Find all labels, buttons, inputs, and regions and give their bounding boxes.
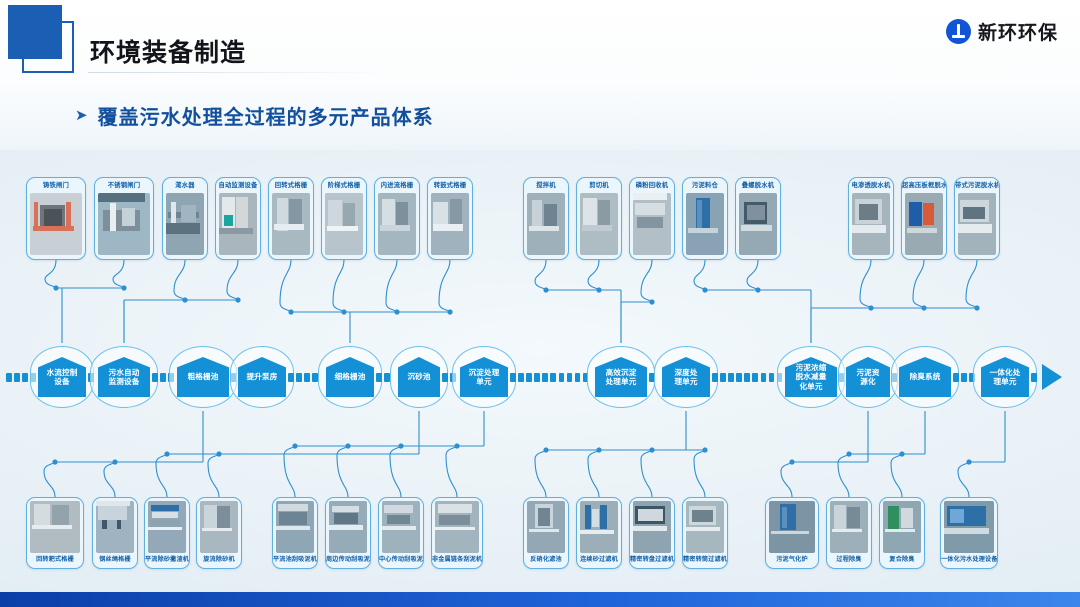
page-title: 环境装备制造 [90,33,246,69]
product-thumbnail [580,193,618,255]
connector-line [860,260,871,308]
process-node-label: 除臭系统 [901,372,949,381]
product-thumbnail [30,501,80,553]
photo-texture [148,501,186,553]
connector-line [446,446,457,497]
product-thumbnail [852,193,890,255]
photo-texture [325,193,363,255]
photo-texture [769,501,815,553]
product-card-label: 不锈钢闸门 [95,178,153,193]
product-card-label: 周边传动刮吸泥机 [326,553,370,567]
photo-texture [633,501,671,553]
product-thumbnail [200,501,238,553]
connector-line [45,260,56,288]
product-card-bottom[interactable]: 中心传动刮吸泥机 [378,497,424,569]
photo-texture [686,501,724,553]
photo-texture [883,501,921,553]
product-thumbnail [944,501,994,553]
product-thumbnail [686,501,724,553]
product-thumbnail [325,193,363,255]
connector-line [174,260,185,300]
connector-line [641,260,652,302]
product-card-label: 非金属链条刮泥机 [432,553,482,567]
product-card-label: 污泥气化炉 [766,553,818,567]
title-divider [88,72,388,73]
product-card-top[interactable]: 污泥料仓 [682,177,728,260]
product-card-top[interactable]: 自动监测设备 [215,177,261,260]
photo-texture [272,193,310,255]
product-card-top[interactable]: 电渗透脱水机 [848,177,894,260]
process-node-label: 细格栅池 [328,372,372,381]
flow-dashes [510,373,593,382]
product-card-bottom[interactable]: 回转耙式格栅 [26,497,84,569]
photo-texture [329,501,367,553]
connector-line [113,260,124,288]
product-card-bottom[interactable]: 周边传动刮吸泥机 [325,497,371,569]
product-card-label: 旋流除砂机 [197,553,241,567]
photo-texture [580,193,618,255]
product-card-label: 污泥料仓 [683,178,727,193]
connector-line [694,260,705,290]
process-node-label: 沉砂池 [400,372,438,381]
flow-dashes [712,373,783,382]
process-node-label: 深度处理单元 [664,368,708,386]
process-node-label: 一体化处理单元 [983,368,1027,386]
process-node-label: 水流控制设备 [40,368,84,386]
photo-texture [580,501,618,553]
product-card-top[interactable]: 回转式格栅 [268,177,314,260]
flow-arrow-icon [1042,364,1062,390]
photo-texture [852,193,890,255]
photo-texture [30,501,80,553]
product-card-top[interactable]: 超高压板框脱水机 [901,177,947,260]
connector-line [966,260,977,308]
photo-texture [633,193,671,255]
product-card-label: 回转耙式格栅 [27,553,83,567]
process-node-label: 高效沉淀处理单元 [597,368,645,386]
product-card-label: 自动监测设备 [216,178,260,193]
photo-texture [905,193,943,255]
photo-texture [527,501,565,553]
connector-line [156,454,167,497]
connector-line [208,454,219,497]
product-thumbnail [633,193,671,255]
product-thumbnail [527,501,565,553]
photo-texture [739,193,777,255]
product-thumbnail [958,193,996,255]
product-card-label: 超高压板框脱水机 [902,178,946,193]
product-thumbnail [431,193,469,255]
connector-line [439,260,450,312]
product-card-label: 连续砂过滤机 [577,553,621,567]
process-node-label: 污泥资源化 [848,368,888,386]
product-thumbnail [378,193,416,255]
brand-logo: 新环环保 [946,18,1058,45]
product-thumbnail [527,193,565,255]
photo-texture [944,501,994,553]
brand-name: 新环环保 [978,18,1058,45]
product-thumbnail [96,501,134,553]
product-card-bottom[interactable]: 旋流除砂机 [196,497,242,569]
product-card-bottom[interactable]: 精密转筒过滤机 [682,497,728,569]
connector-line [227,260,238,300]
connector-line [333,260,344,312]
connector-line [641,450,652,497]
connector-line [781,462,792,497]
product-thumbnail [686,193,724,255]
photo-texture [686,193,724,255]
product-card-label: 精密转盘过滤机 [630,553,674,567]
connector-line [913,260,924,308]
photo-texture [527,193,565,255]
connector-line [838,454,849,497]
product-card-bottom[interactable]: 反硝化滤池 [523,497,569,569]
photo-texture [276,501,314,553]
connector-line [280,260,291,312]
product-card-bottom[interactable]: 平流池刮吸泥机 [272,497,318,569]
product-thumbnail [580,501,618,553]
product-thumbnail [905,193,943,255]
subtitle-text: 覆盖污水处理全过程的多元产品体系 [98,101,434,130]
photo-texture [431,193,469,255]
footer-bar [0,592,1080,607]
arrow-right-icon: ➤ [75,108,88,123]
process-node-label: 沉淀处理单元 [462,368,506,386]
product-card-bottom[interactable]: 一体化污水处理设备 [940,497,998,569]
product-card-label: 回转式格栅 [269,178,313,193]
process-node-label: 提升泵房 [240,372,284,381]
product-card-bottom[interactable]: 精密转盘过滤机 [629,497,675,569]
connector-line [588,260,599,290]
product-card-label: 电渗透脱水机 [849,178,893,193]
product-card-label: 反硝化滤池 [524,553,568,567]
product-card-top[interactable]: 铸铁闸门 [26,177,86,260]
product-card-top[interactable]: 滗水器 [162,177,208,260]
photo-texture [200,501,238,553]
product-thumbnail [98,193,150,255]
product-thumbnail [219,193,257,255]
process-node-label: 污泥浓缩脱水减量化单元 [787,363,835,391]
product-card-bottom[interactable]: 平流除砂撇渣机 [144,497,190,569]
product-card-bottom[interactable]: 污泥气化炉 [765,497,819,569]
photo-texture [378,193,416,255]
connector-line [588,450,599,497]
product-thumbnail [272,193,310,255]
product-card-top[interactable]: 剪切机 [576,177,622,260]
product-card-label: 平流除砂撇渣机 [145,553,189,567]
flow-dashes [1031,373,1040,382]
product-thumbnail [329,501,367,553]
product-card-label: 平流池刮吸泥机 [273,553,317,567]
product-card-label: 内进流格栅 [375,178,419,193]
product-thumbnail [166,193,204,255]
product-card-label: 搅拌机 [524,178,568,193]
process-node-label: 粗格栅池 [179,372,227,381]
page-header: 环境装备制造 新环环保 ➤ 覆盖污水处理全过程的多元产品体系 [0,0,1080,150]
process-node-label: 污水自动监测设备 [100,368,148,386]
connector-line [694,450,705,497]
product-card-bottom[interactable]: 过程除臭 [826,497,872,569]
photo-texture [219,193,257,255]
product-card-label: 复合除臭 [880,553,924,567]
product-card-bottom[interactable]: 钢丝绳格栅 [92,497,138,569]
connector-line [104,462,115,497]
connector-line [747,260,758,290]
product-card-top[interactable]: 搅拌机 [523,177,569,260]
product-card-bottom[interactable]: 复合除臭 [879,497,925,569]
product-card-label: 带式污泥脱水机 [955,178,999,193]
product-thumbnail [435,501,479,553]
product-thumbnail [633,501,671,553]
photo-texture [435,501,479,553]
product-card-bottom[interactable]: 非金属链条刮泥机 [431,497,483,569]
product-card-top[interactable]: 不锈钢闸门 [94,177,154,260]
product-card-top[interactable]: 叠螺脱水机 [735,177,781,260]
product-thumbnail [739,193,777,255]
person-icon [946,19,971,44]
product-card-label: 阶梯式格栅 [322,178,366,193]
connector-line [535,260,546,290]
photo-texture [96,501,134,553]
product-card-label: 滗水器 [163,178,207,193]
product-card-top[interactable]: 内进流格栅 [374,177,420,260]
decoration-square-outline [22,21,74,73]
product-card-label: 叠螺脱水机 [736,178,780,193]
photo-texture [98,193,150,255]
photo-texture [830,501,868,553]
photo-texture [30,193,82,255]
product-card-label: 磷粉回收机 [630,178,674,193]
product-card-label: 一体化污水处理设备 [941,553,997,567]
diagram-canvas: 铸铁闸门不锈钢闸门滗水器自动监测设备回转式格栅阶梯式格栅内进流格栅转鼓式格栅搅拌… [0,150,1080,592]
product-thumbnail [276,501,314,553]
product-thumbnail [883,501,921,553]
product-thumbnail [830,501,868,553]
connector-line [535,450,546,497]
product-thumbnail [382,501,420,553]
connector-line [891,454,902,497]
connector-line [958,462,969,497]
product-card-label: 过程除臭 [827,553,871,567]
product-card-label: 精密转筒过滤机 [683,553,727,567]
product-card-top[interactable]: 磷粉回收机 [629,177,675,260]
product-card-top[interactable]: 带式污泥脱水机 [954,177,1000,260]
product-card-top[interactable]: 阶梯式格栅 [321,177,367,260]
product-thumbnail [30,193,82,255]
product-thumbnail [769,501,815,553]
photo-texture [382,501,420,553]
product-card-label: 中心传动刮吸泥机 [379,553,423,567]
product-card-bottom[interactable]: 连续砂过滤机 [576,497,622,569]
product-thumbnail [148,501,186,553]
product-card-label: 钢丝绳格栅 [93,553,137,567]
photo-texture [166,193,204,255]
section-subtitle: ➤ 覆盖污水处理全过程的多元产品体系 [75,101,434,130]
connector-line [386,260,397,312]
product-card-label: 剪切机 [577,178,621,193]
product-card-label: 转鼓式格栅 [428,178,472,193]
product-card-top[interactable]: 转鼓式格栅 [427,177,473,260]
photo-texture [958,193,996,255]
connector-line [44,462,55,497]
product-card-label: 铸铁闸门 [27,178,85,193]
